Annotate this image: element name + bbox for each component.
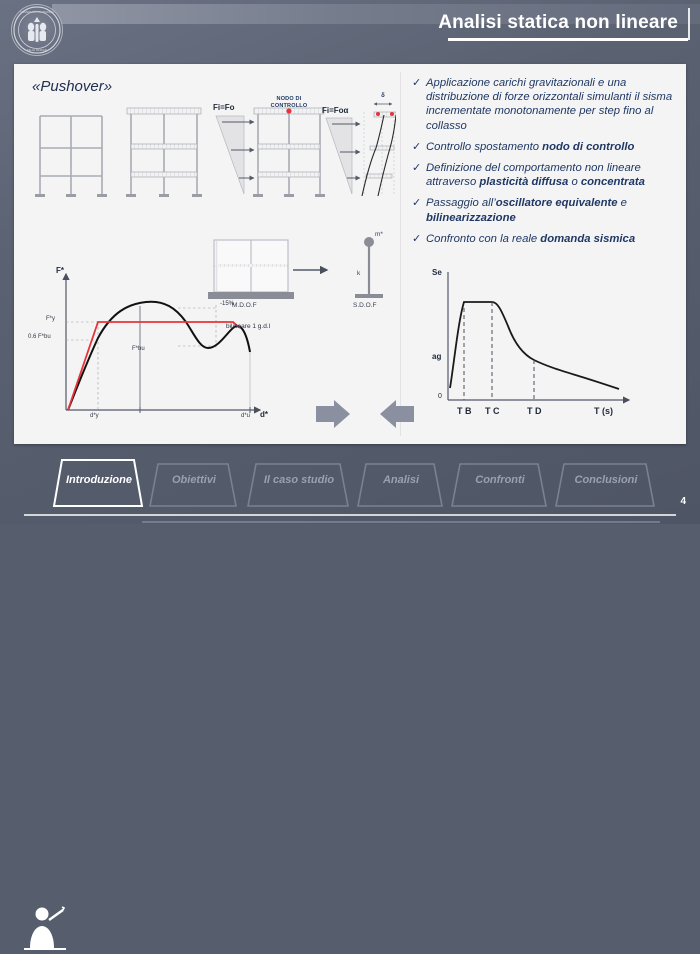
bullet-text-1: Applicazione carichi gravitazionali e un… [426,76,680,133]
nav-tab-obiettivi[interactable]: Obiettivi [152,458,236,502]
bullet-3-part-2: o [568,176,581,188]
list-item: ✓ Definizione del comportamento non line… [412,161,680,189]
page-title: Analisi statica non lineare [428,10,688,38]
slide-root: UNIVERSITÀ POLITECNICA DELLE MARCHE Anal… [0,0,700,524]
arrows-svg [310,394,420,434]
section-title: «Pushover» [32,78,112,95]
check-icon: ✓ [412,140,426,154]
list-item: ✓ Applicazione carichi gravitazionali e … [412,76,680,133]
university-logo: UNIVERSITÀ POLITECNICA DELLE MARCHE [11,4,63,56]
spectrum-xtick-td: T D [527,406,542,416]
bullet-text-4: Passaggio all’oscillatore equivalente e … [426,196,680,224]
capacity-xtick-dy: d*y [90,413,99,419]
list-item: ✓ Controllo spostamento nodo di controll… [412,140,680,154]
seal-icon: UNIVERSITÀ POLITECNICA DELLE MARCHE [12,5,62,55]
sdof-svg [339,232,399,332]
page-number: 4 [680,496,686,507]
bottom-navigation: Introduzione Obiettivi Il caso studio An… [0,450,700,524]
list-item: ✓ Passaggio all’oscillatore equivalente … [412,196,680,224]
bullet-4-part-3: bilinearizzazione [426,212,516,224]
nav-tab-label: Obiettivi [172,474,216,486]
control-node-label-line1: NODO DI [254,96,324,103]
svg-text:DELLE MARCHE: DELLE MARCHE [27,48,47,52]
speaker-icon [22,904,68,954]
control-node-label-line2: CONTROLLO [254,103,324,110]
capacity-x-axis-label: d* [260,410,268,419]
spectrum-ytick-ag: ag [432,352,441,361]
bullet-3-part-3: concentrata [581,176,645,188]
capacity-label-fbu: F*bu [132,346,145,352]
bullet-text-3: Definizione del comportamento non linear… [426,161,680,189]
capacity-ytick-06fbu: 0.6 F*bu [28,334,51,340]
list-item: ✓ Confronto con la reale domanda sismica [412,232,680,246]
response-spectrum-chart: Se ag 0 T B T C T D T (s) [414,260,664,425]
nav-tab-il-caso-studio[interactable]: Il caso studio [250,458,348,502]
frame-bare [40,116,102,194]
bullet-3-part-1: plasticità diffusa [479,176,568,188]
nav-tab-analisi[interactable]: Analisi [360,458,442,502]
spectrum-xtick-tc: T C [485,406,500,416]
deformed-frame [362,104,396,196]
spectrum-xtick-tb: T B [457,406,472,416]
check-icon: ✓ [412,232,426,246]
force-label-fo-alpha: Fi=Foα [322,106,348,115]
nav-tab-label: Il caso studio [264,474,334,486]
arrow-left-icon [380,400,414,428]
nav-tab-label: Introduzione [66,474,132,486]
title-underline [448,38,688,41]
sdof-label: S.D.O.F [353,302,376,309]
slide-header: UNIVERSITÀ POLITECNICA DELLE MARCHE Anal… [0,0,700,56]
spectrum-y-axis-label: Se [432,268,442,277]
spectrum-svg [414,260,664,425]
capacity-ytick-fy: F*y [46,316,55,322]
bidirectional-arrows [310,394,420,434]
content-panel: «Pushover» [14,64,686,444]
check-icon: ✓ [412,76,426,133]
bullet-text-2: Controllo spostamento nodo di controllo [426,140,634,154]
mdof-to-sdof-arrow [291,260,351,280]
capacity-annotation-drop: -15% [220,301,234,307]
stiffness-label: k [357,270,360,277]
nav-tab-introduzione[interactable]: Introduzione [56,458,142,502]
bullet-4-part-2: e [618,197,627,209]
frame-slabs [131,112,197,194]
nav-tab-label: Confronti [475,474,524,486]
bullet-4-part-1: oscillatore equivalente [496,197,618,209]
sdof-diagram: m* k S.D.O.F [339,232,399,332]
nav-tab-conclusioni[interactable]: Conclusioni [558,458,654,502]
load-triangle-1 [216,116,254,194]
nav-tab-label: Analisi [383,474,419,486]
nav-tab-label: Conclusioni [575,474,638,486]
frame-diagrams: NODO DI CONTROLLO Fi=Fo Fi=Foα δ [26,98,396,208]
bullet-2-part-0: Controllo spostamento [426,141,542,153]
bullet-list: ✓ Applicazione carichi gravitazionali e … [412,76,680,253]
capacity-y-axis-label: F* [56,266,64,275]
mass-label: m* [375,231,383,238]
bullet-1-part-0: Applicazione carichi gravitazionali e un… [426,77,672,132]
capacity-curve-chart: F* d* F*y 0.6 F*bu d*y d*u F*bu -15% bil… [28,260,278,425]
check-icon: ✓ [412,161,426,189]
check-icon: ✓ [412,196,426,224]
frame-control-node [258,112,320,194]
title-right-bar [688,8,690,40]
bullet-5-part-0: Confronto con la reale [426,233,540,245]
nav-tab-confronti[interactable]: Confronti [454,458,546,502]
force-label-fo: Fi=Fo [213,103,235,112]
bullet-2-part-1: nodo di controllo [542,141,634,153]
arrow-right-icon [316,400,350,428]
bullet-5-part-1: domanda sismica [540,233,635,245]
bullet-4-part-0: Passaggio all’ [426,197,496,209]
capacity-curve-svg [28,260,278,425]
frame-bare-supports [35,194,107,197]
displacement-symbol: δ [376,93,390,100]
spectrum-ytick-zero: 0 [438,393,442,400]
svg-text:UNIVERSITÀ POLITECNICA: UNIVERSITÀ POLITECNICA [20,10,54,14]
load-triangle-2 [326,118,360,194]
capacity-xtick-du: d*u [241,413,250,419]
panel-divider [400,72,401,436]
capacity-annotation-bilinear: bilineare 1 g.d.l [226,323,270,330]
bullet-text-5: Confronto con la reale domanda sismica [426,232,635,246]
spectrum-x-axis-label: T (s) [594,406,613,416]
